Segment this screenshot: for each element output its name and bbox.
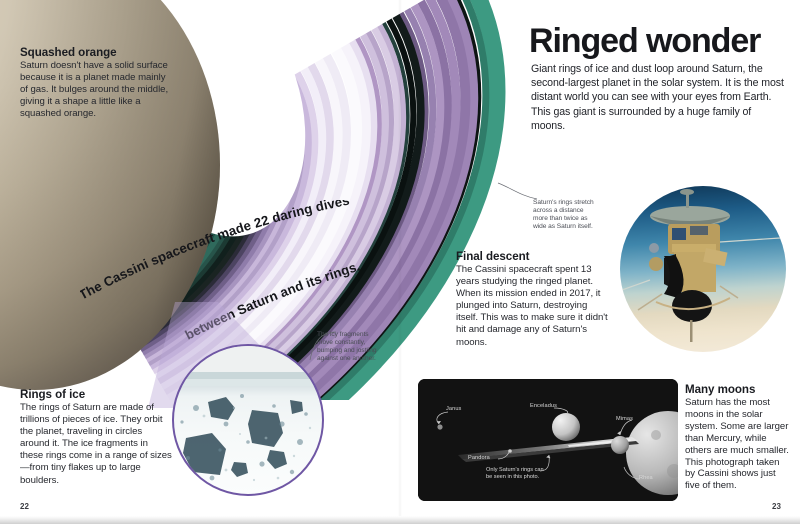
book-bottom-edge (0, 516, 800, 524)
squashed-orange-title: Squashed orange (20, 46, 170, 59)
moon-label-enceladus: Enceladus (530, 403, 557, 409)
text-block-final-descent: Final descent The Cassini spacecraft spe… (456, 250, 611, 349)
many-moons-body: Saturn has the most moons in the solar s… (685, 397, 789, 492)
squashed-orange-body: Saturn doesn't have a solid surface beca… (20, 60, 170, 120)
page-title: Ringed wonder (529, 22, 760, 61)
many-moons-title: Many moons (685, 383, 789, 396)
annotation-ring-span: Saturn's rings stretch across a distance… (533, 199, 595, 231)
book-spread: The Cassini spacecraft made 22 daring di… (0, 0, 800, 524)
moon-label-mimas: Mimas (616, 416, 633, 422)
moons-note-line-2: be seen in this photo. (486, 474, 539, 481)
final-descent-body: The Cassini spacecraft spent 13 years st… (456, 264, 611, 349)
text-block-rings-of-ice: Rings of ice The rings of Saturn are mad… (20, 388, 172, 487)
moon-label-pandora: Pandora (468, 455, 490, 461)
moons-photo-art (418, 379, 678, 501)
annotation-icy-fragments: The icy fragments move constantly, bumpi… (317, 331, 381, 363)
page-number-left: 22 (20, 502, 29, 511)
cassini-spacecraft-art (620, 186, 786, 352)
rings-of-ice-title: Rings of ice (20, 388, 172, 401)
moon-label-janus: Janus (446, 406, 461, 412)
text-block-many-moons: Many moons Saturn has the most moons in … (685, 383, 789, 492)
text-block-squashed-orange: Squashed orange Saturn doesn't have a so… (20, 46, 170, 120)
saturn-moons-photo-panel: Janus Enceladus Mimas Pandora Rhea Only … (418, 379, 678, 501)
ice-fragments-photo (172, 344, 324, 496)
rings-of-ice-body: The rings of Saturn are made of trillion… (20, 402, 172, 487)
moon-label-rhea: Rhea (639, 475, 653, 481)
cassini-spacecraft-photo (620, 186, 786, 352)
ice-fragments-art (174, 346, 322, 494)
final-descent-title: Final descent (456, 250, 611, 263)
intro-paragraph: Giant rings of ice and dust loop around … (531, 62, 787, 133)
page-number-right: 23 (772, 502, 781, 511)
